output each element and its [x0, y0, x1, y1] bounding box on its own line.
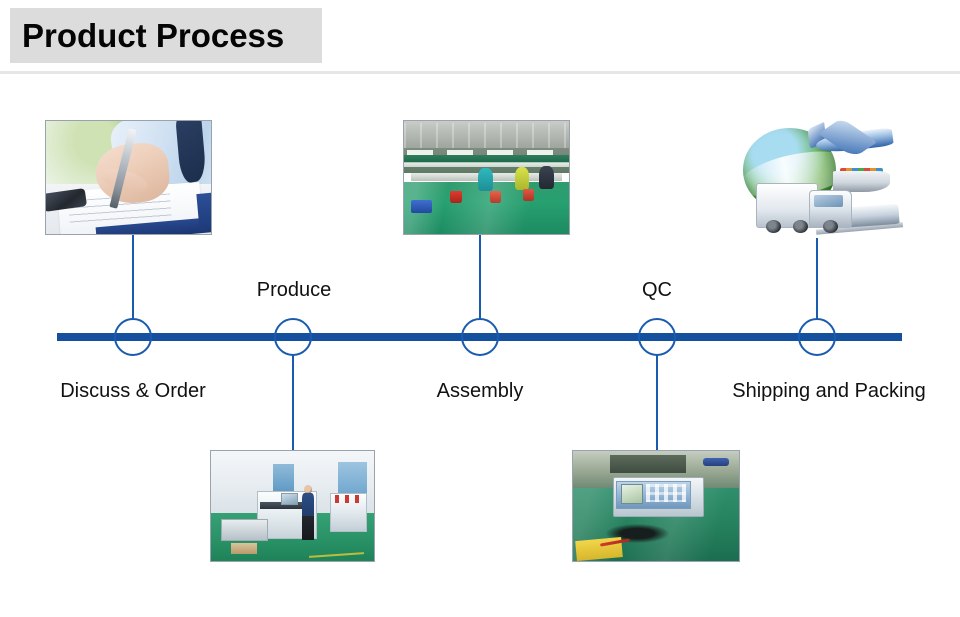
title-banner: Product Process: [10, 8, 322, 63]
photo-shipping-packing: [736, 118, 903, 238]
photo-assembly: [403, 120, 570, 235]
connector-assembly: [479, 235, 481, 320]
header-divider: [0, 71, 960, 74]
connector-discuss-order: [132, 235, 134, 320]
label-produce: Produce: [257, 279, 332, 302]
label-assembly: Assembly: [437, 380, 524, 403]
page-title: Product Process: [10, 19, 284, 52]
timeline-node-shipping-packing[interactable]: [798, 318, 836, 356]
photo-discuss-order: [45, 120, 212, 235]
timeline-node-assembly[interactable]: [461, 318, 499, 356]
page-header: Product Process: [0, 0, 960, 74]
timeline-node-produce[interactable]: [274, 318, 312, 356]
label-qc: QC: [642, 279, 672, 302]
label-discuss-order: Discuss & Order: [60, 380, 206, 403]
photo-produce: [210, 450, 375, 562]
connector-shipping-packing: [816, 238, 818, 320]
connector-produce: [292, 355, 294, 450]
timeline-node-qc[interactable]: [638, 318, 676, 356]
timeline-node-discuss-order[interactable]: [114, 318, 152, 356]
photo-qc: [572, 450, 740, 562]
connector-qc: [656, 355, 658, 450]
label-shipping-packing: Shipping and Packing: [732, 380, 925, 403]
